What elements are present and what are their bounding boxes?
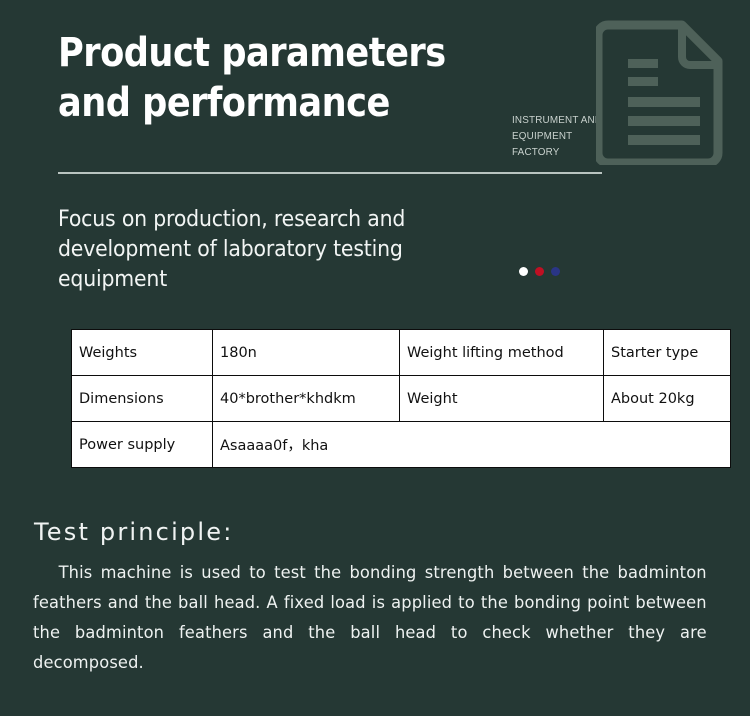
subtitle-block: Focus on production, research and develo… [58, 205, 508, 295]
table-cell: Dimensions [72, 376, 213, 422]
page-header: Product parameters and performance INSTR… [0, 0, 750, 182]
carousel-dots[interactable] [519, 267, 560, 276]
header-divider [58, 172, 602, 174]
document-icon [596, 13, 730, 165]
test-principle-heading: Test principle: [34, 518, 234, 546]
table-cell: Weight [400, 376, 604, 422]
table-cell: Weights [72, 330, 213, 376]
test-principle-body: This machine is used to test the bonding… [33, 558, 707, 678]
subtitle-text: Focus on production, research and develo… [58, 205, 477, 295]
table-cell: Starter type [604, 330, 731, 376]
dot-red[interactable] [535, 267, 544, 276]
table-row: Weights 180n Weight lifting method Start… [72, 330, 731, 376]
table-cell: About 20kg [604, 376, 731, 422]
page-title: Product parameters and performance [58, 28, 472, 128]
table-cell: Power supply [72, 422, 213, 468]
table-cell: Weight lifting method [400, 330, 604, 376]
brand-caption: INSTRUMENT AND EQUIPMENT FACTORY [512, 112, 602, 160]
spec-table-body: Weights 180n Weight lifting method Start… [72, 330, 731, 468]
table-cell: 40*brother*khdkm [213, 376, 400, 422]
dot-white[interactable] [519, 267, 528, 276]
table-cell: 180n [213, 330, 400, 376]
table-row: Dimensions 40*brother*khdkm Weight About… [72, 376, 731, 422]
dot-blue[interactable] [551, 267, 560, 276]
table-cell-merged: Asaaaa0f，kha [213, 422, 731, 468]
table-row: Power supply Asaaaa0f，kha [72, 422, 731, 468]
spec-table: Weights 180n Weight lifting method Start… [71, 329, 731, 468]
